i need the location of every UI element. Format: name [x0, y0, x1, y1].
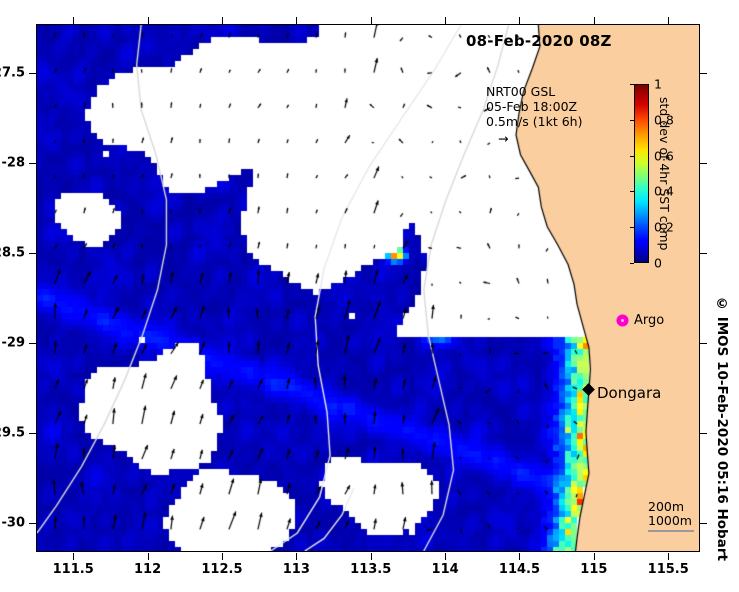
current-vector-legend: NRT00 GSL 05-Feb 18:00Z 0.5m/s (1kt 6h) …	[486, 84, 582, 146]
colorbar-title-text: std dev of 4hr SST comp	[657, 97, 672, 250]
x-axis-tick-top	[668, 17, 669, 24]
x-axis-tick-top	[594, 17, 595, 24]
current-model-name: NRT00 GSL	[486, 84, 582, 99]
colorbar-title: std dev of 4hr SST comp	[657, 84, 672, 263]
colorbar-tick	[630, 120, 634, 121]
x-axis-label: 114	[432, 562, 459, 577]
x-axis-tick-top	[371, 17, 372, 24]
x-axis-tick-top	[148, 17, 149, 24]
x-axis-label: 113	[283, 562, 310, 577]
y-axis-tick-right	[700, 433, 707, 434]
y-axis-label: -29.5	[0, 425, 25, 440]
x-axis-tick	[445, 553, 446, 560]
y-axis-tick-right	[700, 253, 707, 254]
x-axis-tick-top	[222, 17, 223, 24]
colorbar-tick	[630, 263, 634, 264]
x-axis-tick-top	[519, 17, 520, 24]
colorbar-tick	[630, 84, 634, 85]
y-axis-tick	[29, 73, 36, 74]
y-axis-tick-right	[700, 343, 707, 344]
current-vectors-and-contours	[37, 25, 699, 551]
depth-contour-rule	[648, 530, 694, 532]
current-scale-arrow-icon: →	[486, 131, 582, 146]
y-axis-tick	[29, 163, 36, 164]
copyright-notice: © IMOS 10-Feb-2020 05:16 Hobart	[714, 296, 730, 561]
colorbar-tick	[630, 156, 634, 157]
plot-date-title: 08-Feb-2020 08Z	[466, 32, 612, 50]
depth-contour-key: 200m 1000m	[648, 500, 694, 532]
y-axis-label: -29	[2, 335, 26, 350]
y-axis-tick-right	[700, 73, 707, 74]
x-axis-label: 115.5	[648, 562, 689, 577]
y-axis-tick	[29, 343, 36, 344]
y-axis-tick	[29, 433, 36, 434]
x-axis-label: 114.5	[499, 562, 540, 577]
y-axis-label: -28	[2, 155, 26, 170]
colorbar-tick	[630, 227, 634, 228]
y-axis-label: -28.5	[0, 245, 25, 260]
depth-contour-200m: 200m	[648, 500, 694, 514]
argo-legend: Argo	[618, 313, 664, 328]
depth-contour-1000m: 1000m	[648, 514, 694, 528]
map-plot-area[interactable]	[36, 24, 700, 552]
colorbar: 00.20.40.60.81	[634, 84, 649, 263]
y-axis-tick	[29, 523, 36, 524]
x-axis-tick-top	[445, 17, 446, 24]
argo-legend-label: Argo	[634, 313, 664, 328]
x-axis-tick	[73, 553, 74, 560]
x-axis-tick	[148, 553, 149, 560]
x-axis-label: 111.5	[53, 562, 94, 577]
colorbar-gradient	[634, 84, 649, 263]
x-axis-label: 112	[134, 562, 161, 577]
current-scale-text: 0.5m/s (1kt 6h)	[486, 114, 582, 129]
x-axis-label: 113.5	[350, 562, 391, 577]
y-axis-tick-right	[700, 523, 707, 524]
x-axis-tick	[371, 553, 372, 560]
y-axis-tick	[29, 253, 36, 254]
x-axis-tick-top	[296, 17, 297, 24]
y-axis-tick-right	[700, 163, 707, 164]
x-axis-tick	[222, 553, 223, 560]
x-axis-tick	[668, 553, 669, 560]
y-axis-label: -27.5	[0, 65, 25, 80]
x-axis-label: 115	[580, 562, 607, 577]
x-axis-tick-top	[73, 17, 74, 24]
x-axis-tick	[594, 553, 595, 560]
x-axis-tick	[296, 553, 297, 560]
argo-marker-icon	[618, 316, 627, 325]
figure-root: 08-Feb-2020 08Z NRT00 GSL 05-Feb 18:00Z …	[0, 0, 739, 592]
colorbar-tick	[630, 191, 634, 192]
current-timestamp: 05-Feb 18:00Z	[486, 99, 582, 114]
dongara-label: Dongara	[597, 384, 661, 402]
y-axis-label: -30	[2, 515, 26, 530]
x-axis-tick	[519, 553, 520, 560]
x-axis-label: 112.5	[201, 562, 242, 577]
